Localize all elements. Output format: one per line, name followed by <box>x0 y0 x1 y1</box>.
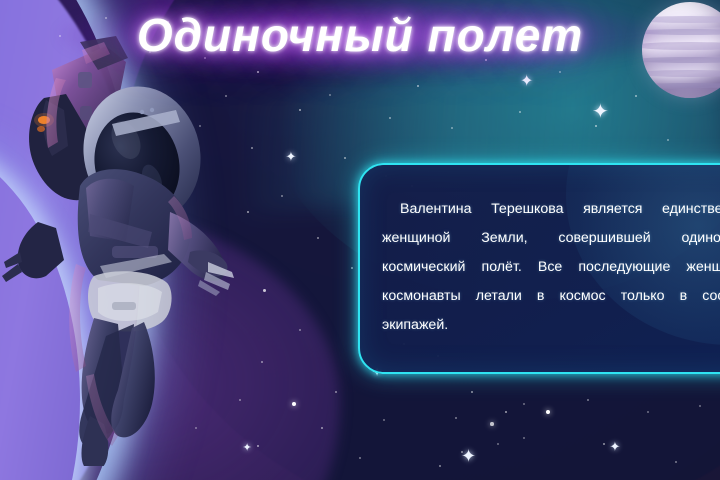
star <box>329 94 331 96</box>
star <box>523 403 525 405</box>
astronaut-figure <box>0 36 244 466</box>
star <box>497 443 499 445</box>
slide-canvas: ✦✦✦✦✦✦✦ <box>0 0 720 480</box>
planet-band <box>642 83 720 88</box>
star <box>383 419 385 421</box>
info-card-text: Валентина Терешкова является единственно… <box>382 195 720 369</box>
star <box>451 127 453 129</box>
star <box>281 195 283 197</box>
page-title: Одиночный полет <box>0 8 720 62</box>
info-card: Валентина Терешкова является единственно… <box>358 163 720 374</box>
star <box>647 411 649 413</box>
sparkle-star-icon: ✦ <box>610 440 621 453</box>
star <box>699 405 701 407</box>
star <box>299 329 301 331</box>
title-block: Одиночный полет <box>0 8 720 62</box>
star <box>667 139 669 141</box>
star <box>490 422 494 426</box>
star <box>263 289 266 292</box>
sparkle-star-icon: ✦ <box>520 74 533 90</box>
sparkle-star-icon: ✦ <box>461 447 476 465</box>
sparkle-star-icon: ✦ <box>286 150 297 163</box>
star <box>523 437 525 439</box>
star <box>559 71 561 73</box>
astronaut-left-hand <box>2 222 64 282</box>
planet-band <box>642 70 720 77</box>
sparkle-star-icon: ✦ <box>592 102 609 122</box>
astronaut-right-arm <box>168 212 234 296</box>
